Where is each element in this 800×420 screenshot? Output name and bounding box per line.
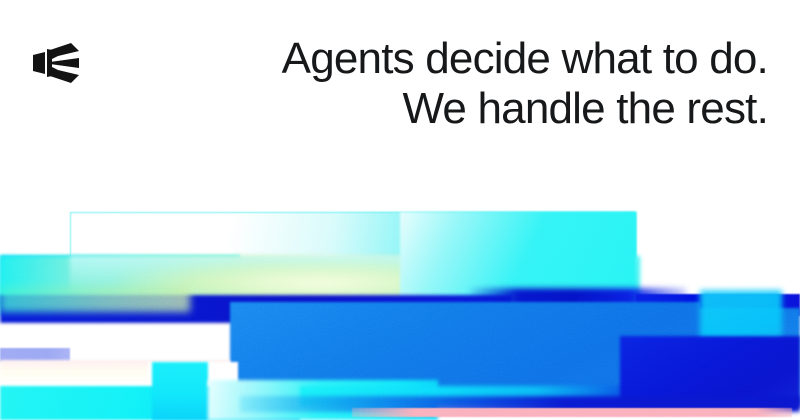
art-column-cyan — [152, 362, 208, 420]
headline-line-1: Agents decide what to do. — [148, 34, 768, 84]
abstract-gradient-banner — [0, 190, 800, 420]
header-area: Agents decide what to do. We handle the … — [0, 0, 800, 190]
page-title: Agents decide what to do. We handle the … — [148, 34, 768, 134]
promo-banner: Agents decide what to do. We handle the … — [0, 0, 800, 420]
headline-line-2: We handle the rest. — [148, 84, 768, 134]
bracket-mark-logo — [31, 41, 83, 85]
art-strip-pink-bottom — [352, 408, 792, 417]
art-glow-green-corner — [0, 286, 190, 312]
